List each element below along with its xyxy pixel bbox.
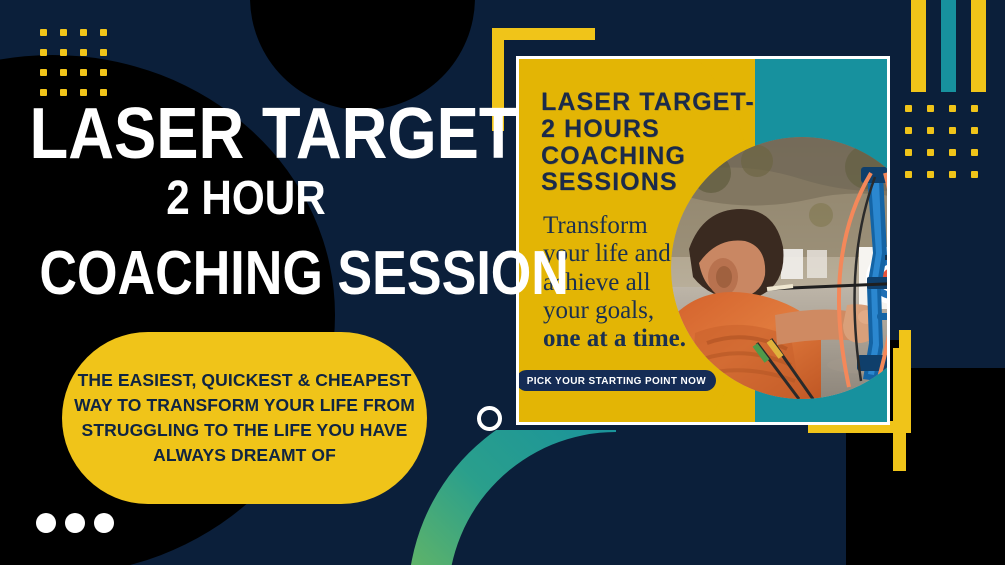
- headline-block: LASER TARGET 2 HOUR COACHING SESSION: [0, 100, 492, 305]
- callout-pill: THE EASIEST, QUICKEST & CHEAPEST WAY TO …: [62, 332, 427, 504]
- poster-body-line-5: one at a time.: [543, 325, 723, 353]
- poster-canvas: LASER TARGET 2 HOUR COACHING SESSION THE…: [0, 0, 1005, 565]
- dot: [949, 105, 956, 112]
- dot: [927, 149, 934, 156]
- dot: [40, 49, 47, 56]
- cta-label: PICK YOUR STARTING POINT NOW: [526, 375, 705, 387]
- dot: [927, 105, 934, 112]
- poster-body-text: Transform your life and achieve all your…: [543, 212, 723, 353]
- vertical-bar-yellow-2: [971, 0, 986, 92]
- dot: [971, 127, 978, 134]
- dot: [971, 171, 978, 178]
- dot: [80, 69, 87, 76]
- headline-line-3: COACHING SESSION: [39, 243, 452, 305]
- dot: [905, 149, 912, 156]
- vertical-bar-teal: [941, 0, 956, 92]
- dot: [905, 105, 912, 112]
- white-dot: [36, 513, 56, 533]
- dot: [80, 49, 87, 56]
- dot: [971, 149, 978, 156]
- poster-body-line-3: achieve all: [543, 269, 723, 297]
- headline-line-2: 2 HOUR: [30, 174, 463, 224]
- dot: [905, 171, 912, 178]
- dot: [40, 69, 47, 76]
- dot: [949, 149, 956, 156]
- dot: [40, 29, 47, 36]
- dot: [100, 49, 107, 56]
- bracket-arm-horizontal: [492, 28, 595, 40]
- dot: [927, 127, 934, 134]
- dot: [60, 49, 67, 56]
- dot: [60, 29, 67, 36]
- dot-grid-right: [905, 105, 993, 193]
- poster-card: LASER TARGET- 2 HOURS COACHING SESSIONS …: [516, 56, 890, 425]
- cta-button[interactable]: PICK YOUR STARTING POINT NOW: [516, 370, 716, 391]
- white-dots-row: [36, 513, 114, 533]
- dot: [80, 29, 87, 36]
- poster-body-line-2: your life and: [543, 240, 723, 268]
- dot: [927, 171, 934, 178]
- bracket-arm-vertical: [899, 330, 911, 433]
- white-dot: [94, 513, 114, 533]
- dot: [949, 127, 956, 134]
- dot: [100, 29, 107, 36]
- poster-body-line-1: Transform: [543, 212, 723, 240]
- dot: [905, 127, 912, 134]
- poster-title: LASER TARGET- 2 HOURS COACHING SESSIONS: [541, 89, 756, 196]
- vertical-bar-yellow-1: [911, 0, 926, 92]
- teal-gradient-arc: [408, 430, 618, 565]
- dot: [100, 69, 107, 76]
- headline-line-1: LASER TARGET: [30, 100, 463, 168]
- dot: [971, 105, 978, 112]
- white-dot: [65, 513, 85, 533]
- dot: [60, 69, 67, 76]
- poster-body-line-4: your goals,: [543, 297, 723, 325]
- white-ring-icon: [477, 406, 502, 431]
- callout-text: THE EASIEST, QUICKEST & CHEAPEST WAY TO …: [62, 368, 427, 467]
- dot: [949, 171, 956, 178]
